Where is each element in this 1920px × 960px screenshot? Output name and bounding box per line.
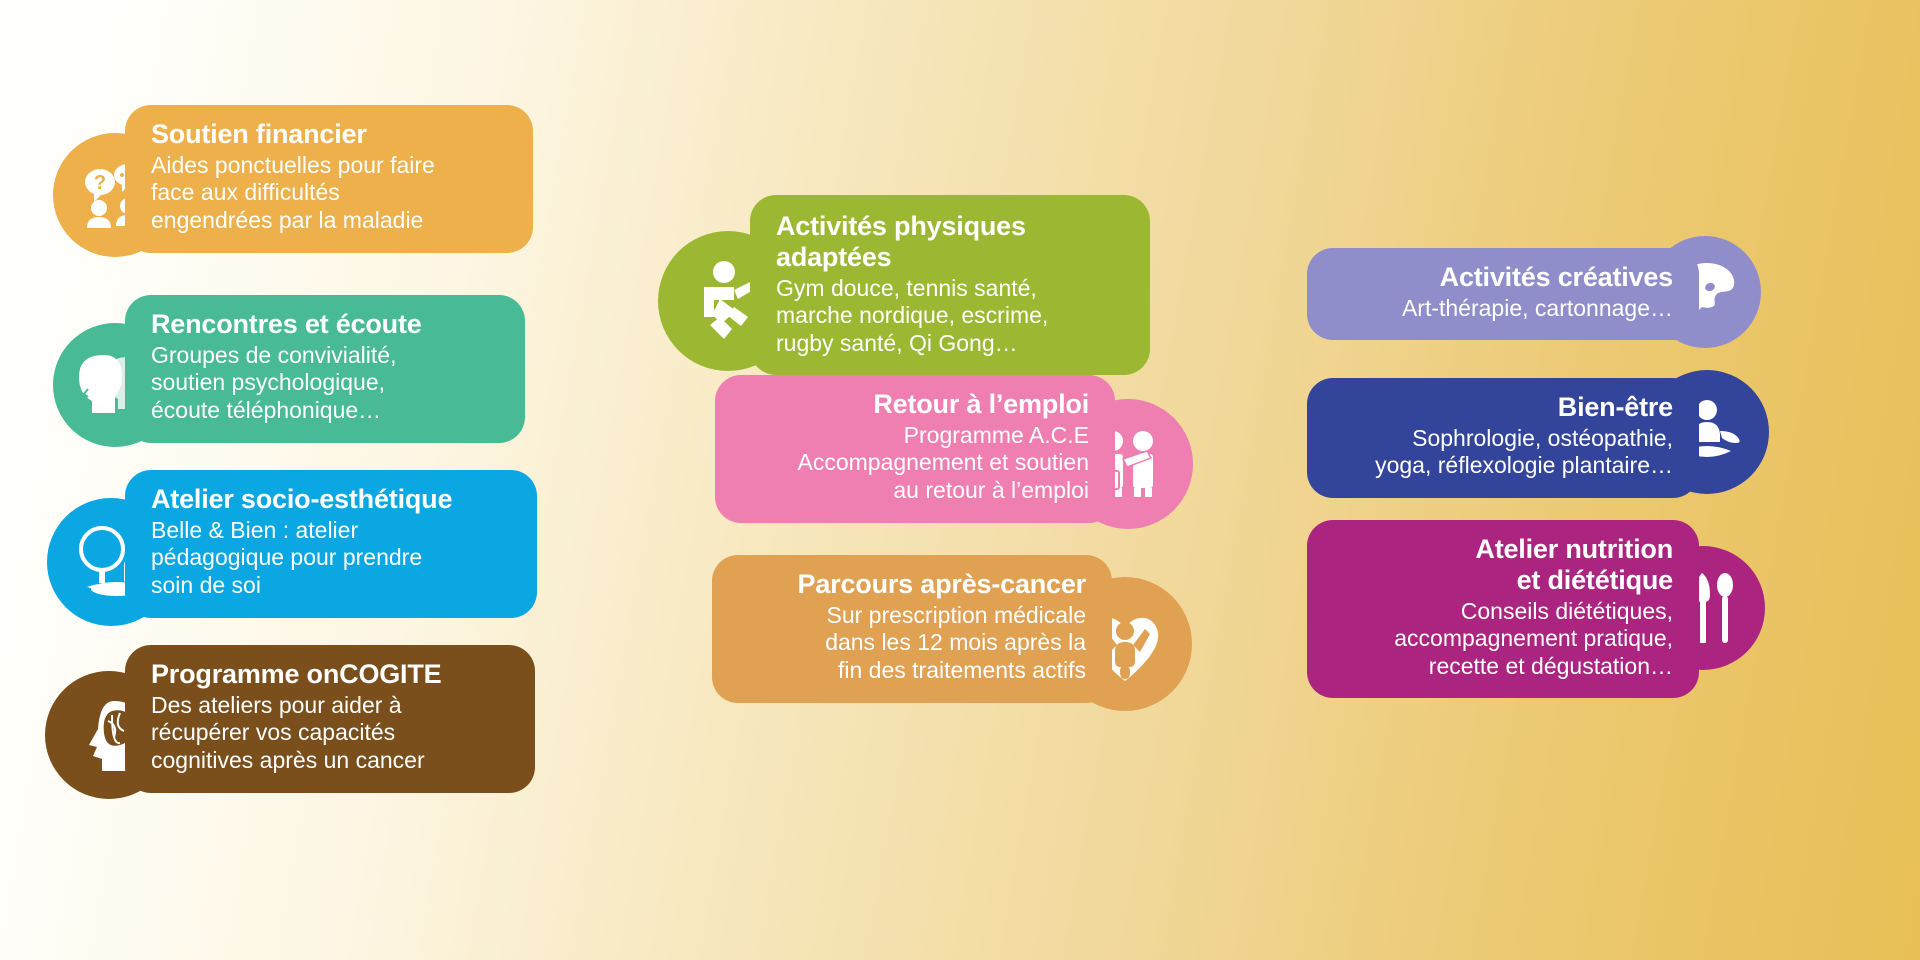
card-body: Retour à l’emploi Programme A.C.E Accomp… — [715, 375, 1115, 523]
card-body: Atelier socio-esthétique Belle & Bien : … — [125, 470, 537, 618]
card-description: Belle & Bien : atelier pédagogique pour … — [151, 517, 422, 600]
card-title: Bien-être — [1558, 392, 1673, 423]
card-description: Aides ponctuelles pour faire face aux di… — [151, 152, 435, 235]
card-retour-a-l-emploi[interactable]: ? Retour à l’emploi Programme A.C.E Acco… — [715, 375, 1115, 523]
card-description: Groupes de convivialité, soutien psychol… — [151, 342, 396, 425]
card-body: Parcours après-cancer Sur prescription m… — [712, 555, 1112, 703]
card-title: Activités physiques adaptées — [776, 211, 1026, 273]
card-rencontres-et-ecoute[interactable]: Rencontres et écoute Groupes de convivia… — [125, 295, 525, 443]
card-body: Activités créatives Art-thérapie, carton… — [1307, 248, 1699, 340]
card-activites-creatives[interactable]: Activités créatives Art-thérapie, carton… — [1307, 248, 1699, 340]
card-title: Atelier nutrition et diététique — [1475, 534, 1673, 596]
infographic-canvas: ? Soutien financier Aides ponctuelles po… — [0, 0, 1920, 960]
card-title: Soutien financier — [151, 119, 367, 150]
card-description: Gym douce, tennis santé, marche nordique… — [776, 275, 1048, 358]
card-atelier-nutrition-dietetique[interactable]: Atelier nutrition et diététique Conseils… — [1307, 520, 1699, 698]
card-description: Sophrologie, ostéopathie, yoga, réflexol… — [1375, 425, 1673, 480]
card-description: Art-thérapie, cartonnage… — [1402, 295, 1673, 323]
card-body: Programme onCOGITE Des ateliers pour aid… — [125, 645, 535, 793]
card-parcours-apres-cancer[interactable]: Parcours après-cancer Sur prescription m… — [712, 555, 1112, 703]
card-description: Programme A.C.E Accompagnement et soutie… — [797, 422, 1089, 505]
card-description: Des ateliers pour aider à récupérer vos … — [151, 692, 425, 775]
card-soutien-financier[interactable]: ? Soutien financier Aides ponctuelles po… — [125, 105, 533, 253]
card-title: Atelier socio-esthétique — [151, 484, 452, 515]
svg-text:?: ? — [94, 172, 106, 194]
card-body: Activités physiques adaptées Gym douce, … — [750, 195, 1150, 375]
card-activites-physiques-adaptees[interactable]: Activités physiques adaptées Gym douce, … — [750, 195, 1150, 375]
card-atelier-socio-esthetique[interactable]: Atelier socio-esthétique Belle & Bien : … — [125, 470, 537, 618]
card-title: Parcours après-cancer — [798, 569, 1086, 600]
card-body: Bien-être Sophrologie, ostéopathie, yoga… — [1307, 378, 1699, 498]
card-body: Rencontres et écoute Groupes de convivia… — [125, 295, 525, 443]
card-body: Atelier nutrition et diététique Conseils… — [1307, 520, 1699, 698]
card-bien-etre[interactable]: Bien-être Sophrologie, ostéopathie, yoga… — [1307, 378, 1699, 498]
card-title: Activités créatives — [1440, 262, 1673, 293]
card-body: Soutien financier Aides ponctuelles pour… — [125, 105, 533, 253]
card-title: Rencontres et écoute — [151, 309, 422, 340]
card-description: Sur prescription médicale dans les 12 mo… — [825, 602, 1086, 685]
card-title: Programme onCOGITE — [151, 659, 441, 690]
card-title: Retour à l’emploi — [873, 389, 1089, 420]
card-programme-oncogite[interactable]: Programme onCOGITE Des ateliers pour aid… — [125, 645, 535, 793]
card-description: Conseils diététiques, accompagnement pra… — [1394, 598, 1673, 681]
